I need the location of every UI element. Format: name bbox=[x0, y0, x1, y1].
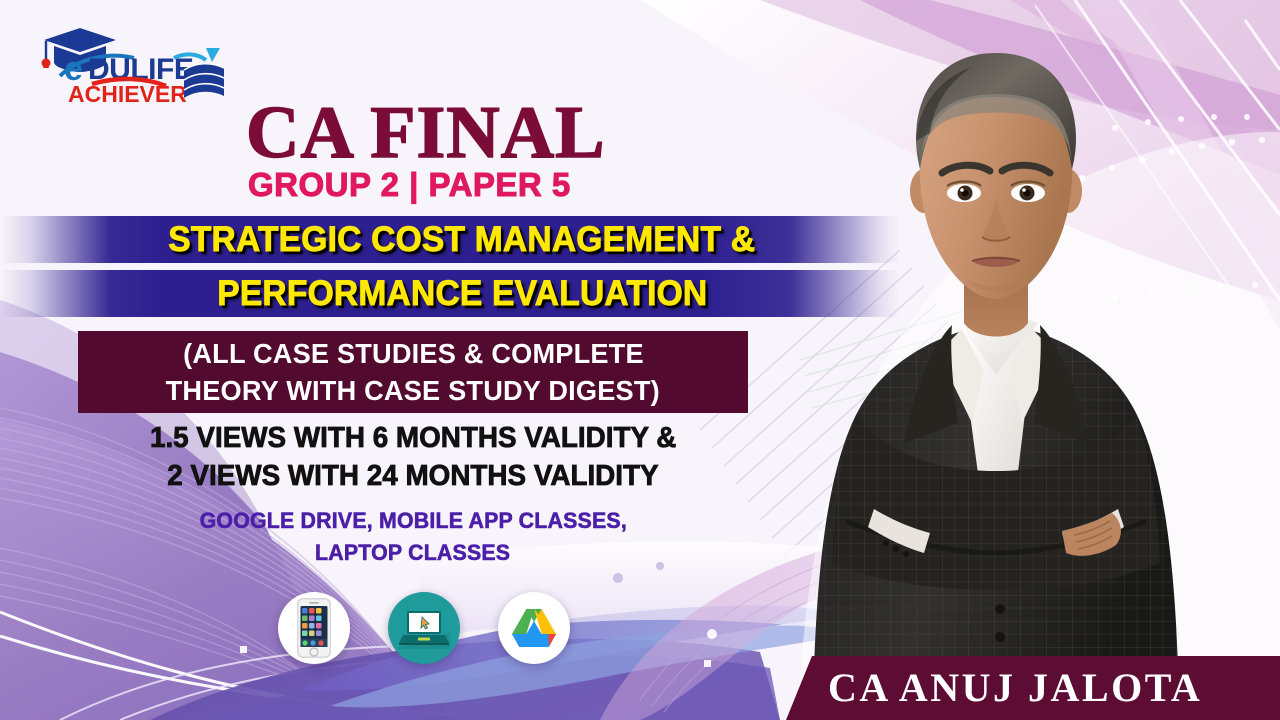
faculty-name-banner: CA ANUJ JALOTA bbox=[786, 656, 1280, 720]
group-paper-subtitle: GROUP 2 | PAPER 5 bbox=[248, 168, 571, 201]
logo-artwork: e DULIFE ACHIEVER bbox=[34, 22, 254, 110]
subject-band-line1: STRATEGIC COST MANAGEMENT & bbox=[0, 216, 900, 263]
delivery-modes: GOOGLE DRIVE, MOBILE APP CLASSES, LAPTOP… bbox=[78, 505, 748, 569]
edulife-achiever-logo: e DULIFE ACHIEVER bbox=[34, 22, 254, 110]
instructor-portrait-illustration bbox=[786, 23, 1206, 668]
scope-text-line1: (ALL CASE STUDIES & COMPLETE bbox=[183, 336, 644, 373]
page-title: CA FINAL bbox=[246, 96, 606, 170]
scope-text-line2: THEORY WITH CASE STUDY DIGEST) bbox=[166, 373, 660, 410]
google-drive-icon bbox=[498, 592, 570, 664]
subject-band-line2: PERFORMANCE EVALUATION bbox=[0, 270, 900, 317]
course-promo-banner: e DULIFE ACHIEVER CA FINAL GROUP 2 | PAP… bbox=[0, 0, 1280, 720]
logo-achiever-text: ACHIEVER bbox=[68, 81, 187, 107]
validity-text-line2: 2 VIEWS WITH 24 MONTHS VALIDITY bbox=[167, 457, 658, 495]
course-scope-box: (ALL CASE STUDIES & COMPLETE THEORY WITH… bbox=[78, 331, 748, 413]
subject-text-line2: PERFORMANCE EVALUATION bbox=[217, 276, 707, 311]
device-icon-row bbox=[278, 592, 570, 664]
mode-text-line1: GOOGLE DRIVE, MOBILE APP CLASSES, bbox=[199, 505, 626, 537]
instructor-photo bbox=[786, 23, 1206, 668]
laptop-icon bbox=[388, 592, 460, 664]
faculty-name-text: CA ANUJ JALOTA bbox=[828, 668, 1202, 708]
mobile-phone-icon bbox=[278, 592, 350, 664]
subject-text-line1: STRATEGIC COST MANAGEMENT & bbox=[169, 222, 756, 257]
validity-details: 1.5 VIEWS WITH 6 MONTHS VALIDITY & 2 VIE… bbox=[78, 419, 748, 496]
mode-text-line2: LAPTOP CLASSES bbox=[315, 537, 510, 569]
validity-text-line1: 1.5 VIEWS WITH 6 MONTHS VALIDITY & bbox=[150, 419, 676, 457]
